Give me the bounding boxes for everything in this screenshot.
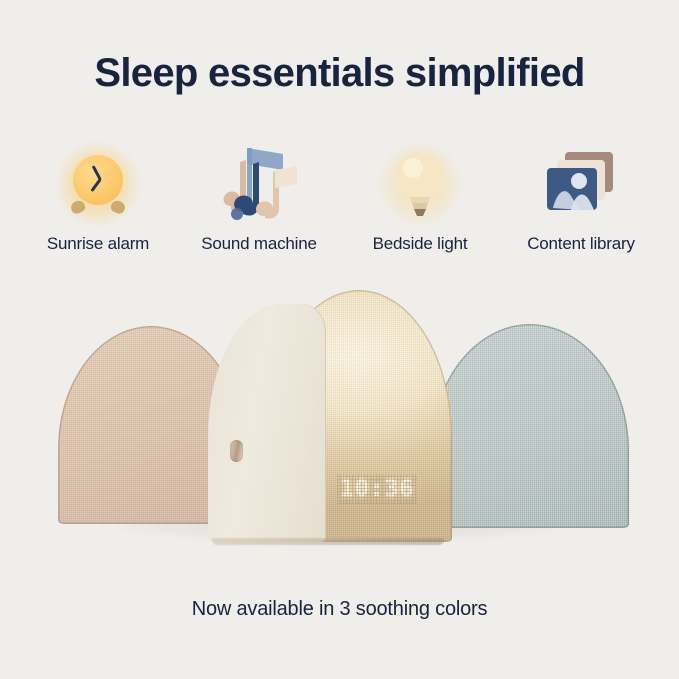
clock-display: 10:36 bbox=[340, 476, 414, 502]
device-cream: 10:36 bbox=[208, 290, 452, 542]
device-base bbox=[212, 538, 444, 545]
alarm-clock-icon bbox=[52, 140, 144, 228]
feature-label: Bedside light bbox=[373, 234, 468, 254]
feature-label: Sound machine bbox=[201, 234, 317, 254]
music-notes-glyph bbox=[213, 140, 305, 228]
feature-item-sunrise-alarm: Sunrise alarm bbox=[18, 140, 178, 254]
photo-stack-glyph bbox=[535, 140, 627, 228]
feature-label: Content library bbox=[527, 234, 635, 254]
alarm-foot-right bbox=[109, 199, 126, 215]
feature-item-bedside-light: Bedside light bbox=[340, 140, 500, 254]
feature-item-content-library: Content library bbox=[501, 140, 661, 254]
music-notes-icon bbox=[213, 140, 305, 228]
feature-label: Sunrise alarm bbox=[47, 234, 149, 254]
product-feature-graphic: Sleep essentials simplified Sunrise alar… bbox=[0, 0, 679, 679]
caption: Now available in 3 soothing colors bbox=[0, 598, 679, 621]
feature-item-sound-machine: Sound machine bbox=[179, 140, 339, 254]
device-side-body bbox=[208, 304, 326, 542]
light-bulb-glyph bbox=[374, 140, 466, 228]
light-bulb-icon bbox=[374, 140, 466, 228]
feature-list: Sunrise alarm Sound machine bbox=[18, 140, 661, 254]
photo-stack-icon bbox=[535, 140, 627, 228]
page-title: Sleep essentials simplified bbox=[0, 50, 679, 96]
device-sage bbox=[431, 324, 629, 528]
product-scene: 10:36 bbox=[0, 282, 679, 562]
device-side-button[interactable] bbox=[230, 440, 243, 462]
